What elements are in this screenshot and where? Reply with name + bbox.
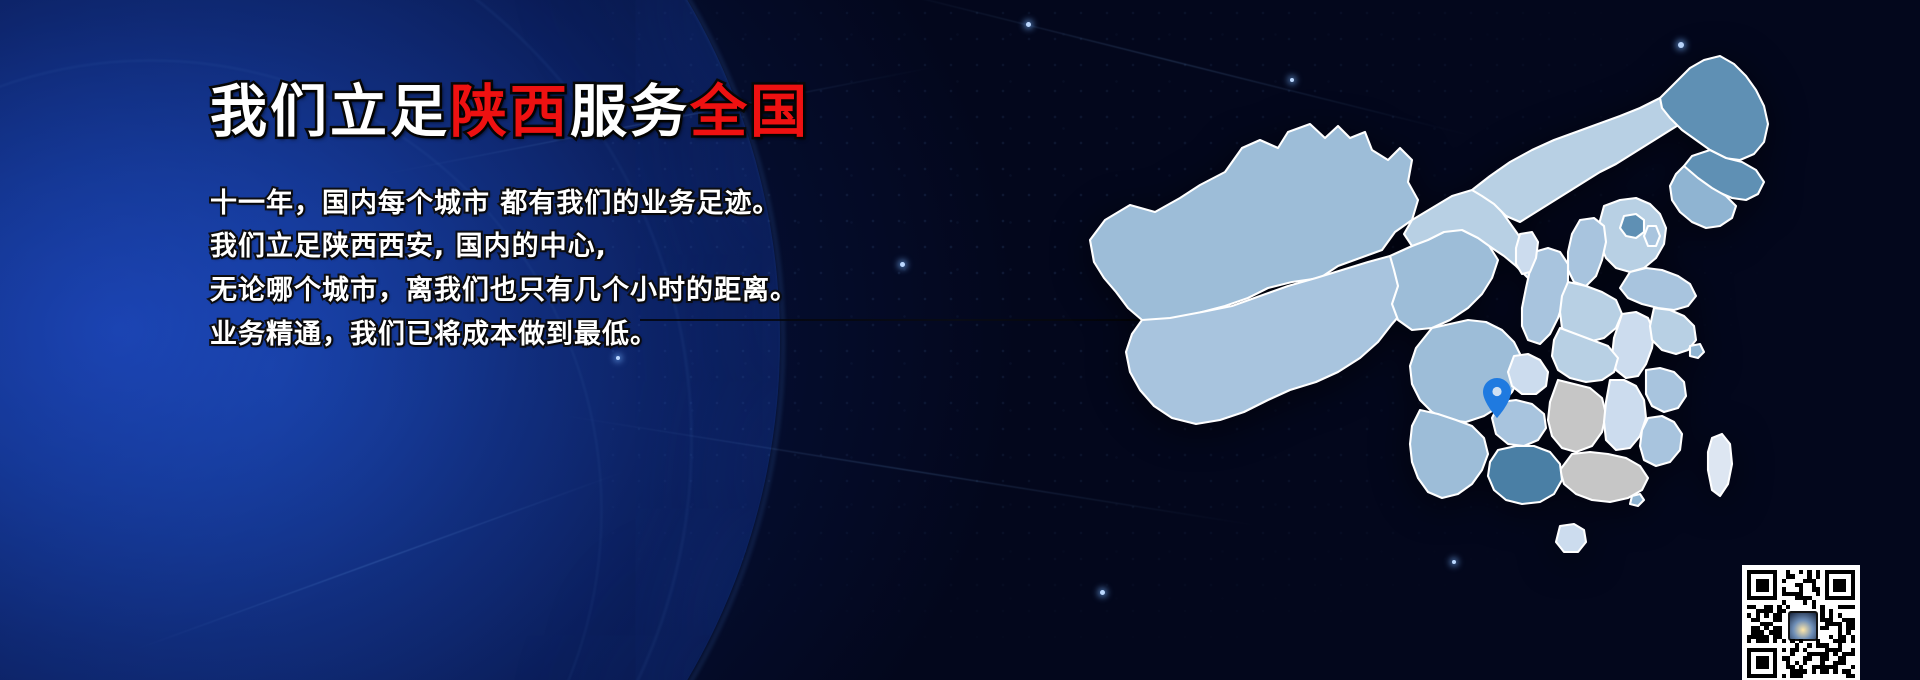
- region-hongkong: [1630, 494, 1644, 506]
- province-shanghai: [1690, 344, 1704, 358]
- province-fujian: [1640, 416, 1682, 466]
- province-guangxi: [1488, 446, 1562, 504]
- headline-part-2: 陕西: [450, 79, 570, 145]
- body-line-3: 无论哪个城市，离我们也只有几个小时的距离。: [210, 269, 990, 313]
- province-jiangxi: [1604, 380, 1646, 450]
- province-shandong: [1620, 268, 1696, 310]
- body-line-2: 我们立足陕西西安, 国内的中心,: [210, 225, 990, 269]
- qr-center-logo-icon: [1788, 611, 1818, 641]
- province-shanxi: [1568, 218, 1606, 286]
- province-yunnan: [1410, 410, 1488, 498]
- province-zhejiang: [1646, 368, 1686, 412]
- promo-banner: 我们立足陕西服务全国 十一年，国内每个城市 都有我们的业务足迹。 我们立足陕西西…: [0, 0, 1920, 680]
- province-qinghai: [1390, 228, 1498, 330]
- china-map-svg: [1020, 20, 1800, 670]
- headline-part-3: 服务: [570, 79, 690, 145]
- province-hunan: [1548, 380, 1606, 452]
- body-line-4: 业务精通，我们已将成本做到最低。: [210, 313, 990, 357]
- headline-part-4: 全国: [690, 79, 810, 145]
- province-beijing: [1620, 214, 1644, 238]
- star-dot: [616, 356, 620, 360]
- province-heilongjiang: [1660, 56, 1768, 160]
- copy-block: 我们立足陕西服务全国 十一年，国内每个城市 都有我们的业务足迹。 我们立足陕西西…: [210, 82, 990, 356]
- province-chongqing: [1508, 354, 1548, 394]
- location-pin-icon[interactable]: [1483, 378, 1511, 418]
- province-taiwan: [1708, 434, 1732, 496]
- qr-matrix: [1747, 570, 1855, 678]
- body-copy: 十一年，国内每个城市 都有我们的业务足迹。 我们立足陕西西安, 国内的中心, 无…: [210, 182, 990, 357]
- wechat-qr-code[interactable]: [1742, 565, 1860, 680]
- province-hainan: [1556, 524, 1586, 552]
- china-map-container: [1020, 20, 1800, 670]
- province-tianjin: [1644, 226, 1660, 246]
- body-line-1: 十一年，国内每个城市 都有我们的业务足迹。: [210, 182, 990, 226]
- headline-part-1: 我们立足: [210, 79, 450, 145]
- page-title: 我们立足陕西服务全国: [210, 82, 990, 144]
- province-anhui: [1612, 312, 1654, 378]
